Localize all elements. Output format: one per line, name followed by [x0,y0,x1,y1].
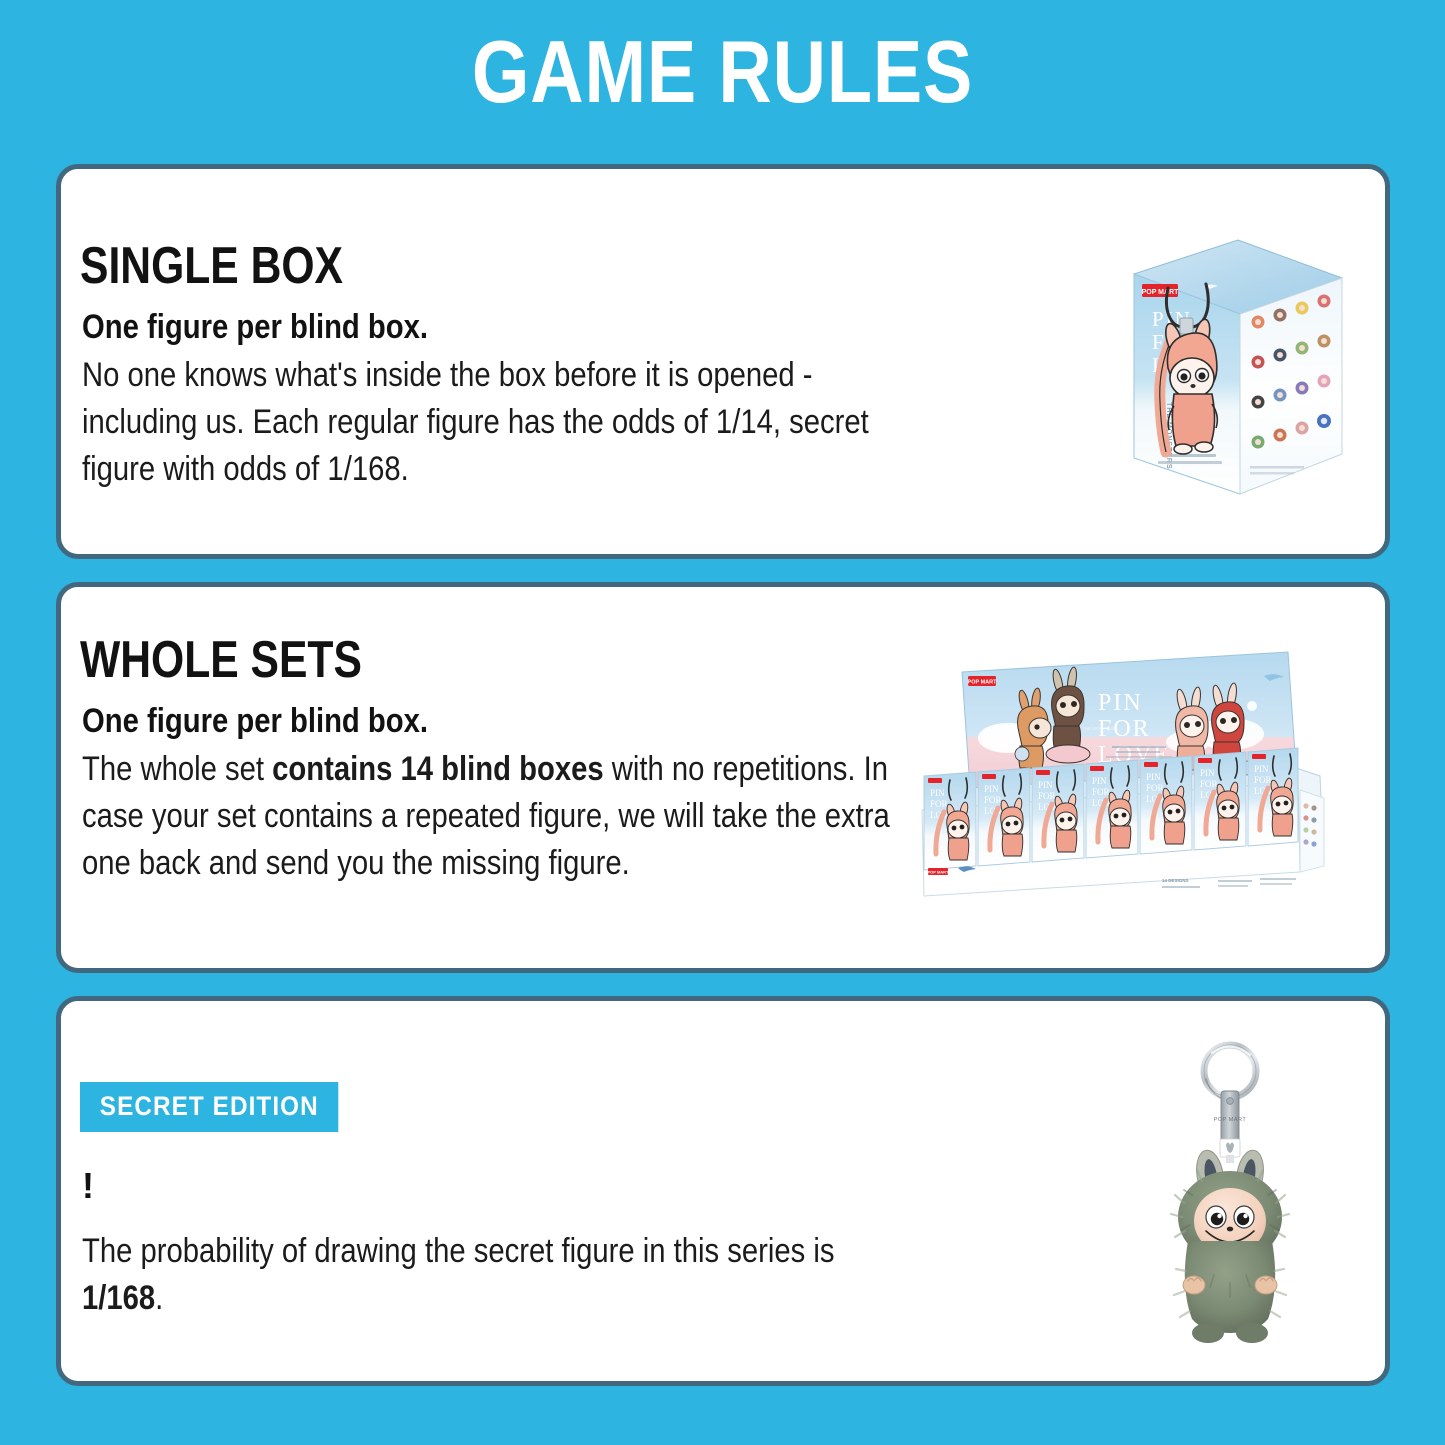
secret-body-part2: . [155,1279,163,1317]
secret-body-part1: The probability of drawing the secret fi… [82,1232,834,1270]
svg-text:FOR: FOR [1146,783,1164,793]
single-box-body-text: No one knows what's inside the box befor… [82,352,908,493]
svg-text:PIN: PIN [1098,690,1143,716]
svg-text:PIN: PIN [984,784,999,794]
svg-text:FOR: FOR [1254,775,1272,785]
blind-box-item: PIN FOR LOVE [924,772,976,870]
whole-sets-subheading: One figure per blind box. [82,700,428,742]
svg-text:POP MART: POP MART [1142,289,1180,296]
box-side-panel [1240,278,1342,494]
display-side-panel [1296,768,1324,872]
secret-figure-keychain-image: POP MART [1140,1035,1320,1365]
whole-sets-body-part1: The whole set [82,750,272,788]
keychain-tab: POP MART [1214,1091,1247,1143]
secret-edition-badge-wrap: SECRET EDITION [80,1082,367,1132]
svg-text:FOR: FOR [984,795,1002,805]
svg-text:PIN: PIN [1146,772,1161,782]
svg-text:PIN: PIN [1038,780,1053,790]
single-box-subheading: One figure per blind box. [82,306,428,348]
svg-text:FOR: FOR [1092,787,1110,797]
svg-text:THE MONSTERS: THE MONSTERS [1082,726,1118,731]
page-title: GAME RULES [116,26,1330,118]
whole-sets-body-text: The whole set contains 14 blind boxes wi… [82,746,908,887]
secret-edition-exclamation: ! [82,1166,94,1206]
svg-text:PIN: PIN [1092,776,1107,786]
single-box-heading: SINGLE BOX [80,238,343,294]
blind-box-item: PIN FOR LOVE [1140,756,1192,854]
svg-text:FOR: FOR [930,799,948,809]
svg-text:POP MART: POP MART [927,870,949,875]
blind-box-item: PIN FOR LOVE [1032,764,1084,862]
single-blind-box-image: POP MART PIN FOR LOVE THE MONSTERS [1110,222,1370,512]
svg-text:PIN: PIN [1254,764,1269,774]
svg-text:POP MART: POP MART [1214,1117,1247,1123]
secret-body-bold: 1/168 [82,1279,155,1317]
status-badge: SECRET EDITION [80,1082,339,1132]
svg-text:14 DESIGNS: 14 DESIGNS [1162,878,1189,883]
svg-text:POP MART: POP MART [968,680,998,686]
whole-sets-body-bold: contains 14 blind boxes [272,750,603,788]
plush-figure [1171,1148,1289,1343]
blind-box-item: PIN FOR LOVE [1086,760,1138,858]
whole-set-display-box-image: POP MART PIN FOR LOVE THE MONSTERS [900,630,1350,910]
whole-sets-heading: WHOLE SETS [80,632,362,688]
svg-text:FOR: FOR [1038,791,1056,801]
hang-tag [1220,1139,1240,1163]
secret-edition-body-text: The probability of drawing the secret fi… [82,1228,908,1322]
svg-text:FOR: FOR [1200,779,1218,789]
blind-box-item: PIN FOR LOVE [1248,748,1298,846]
svg-text:PIN: PIN [930,788,945,798]
svg-text:PIN: PIN [1200,768,1215,778]
blind-box-item: PIN FOR LOVE [1194,752,1246,850]
blind-box-item: PIN FOR LOVE [978,768,1030,866]
